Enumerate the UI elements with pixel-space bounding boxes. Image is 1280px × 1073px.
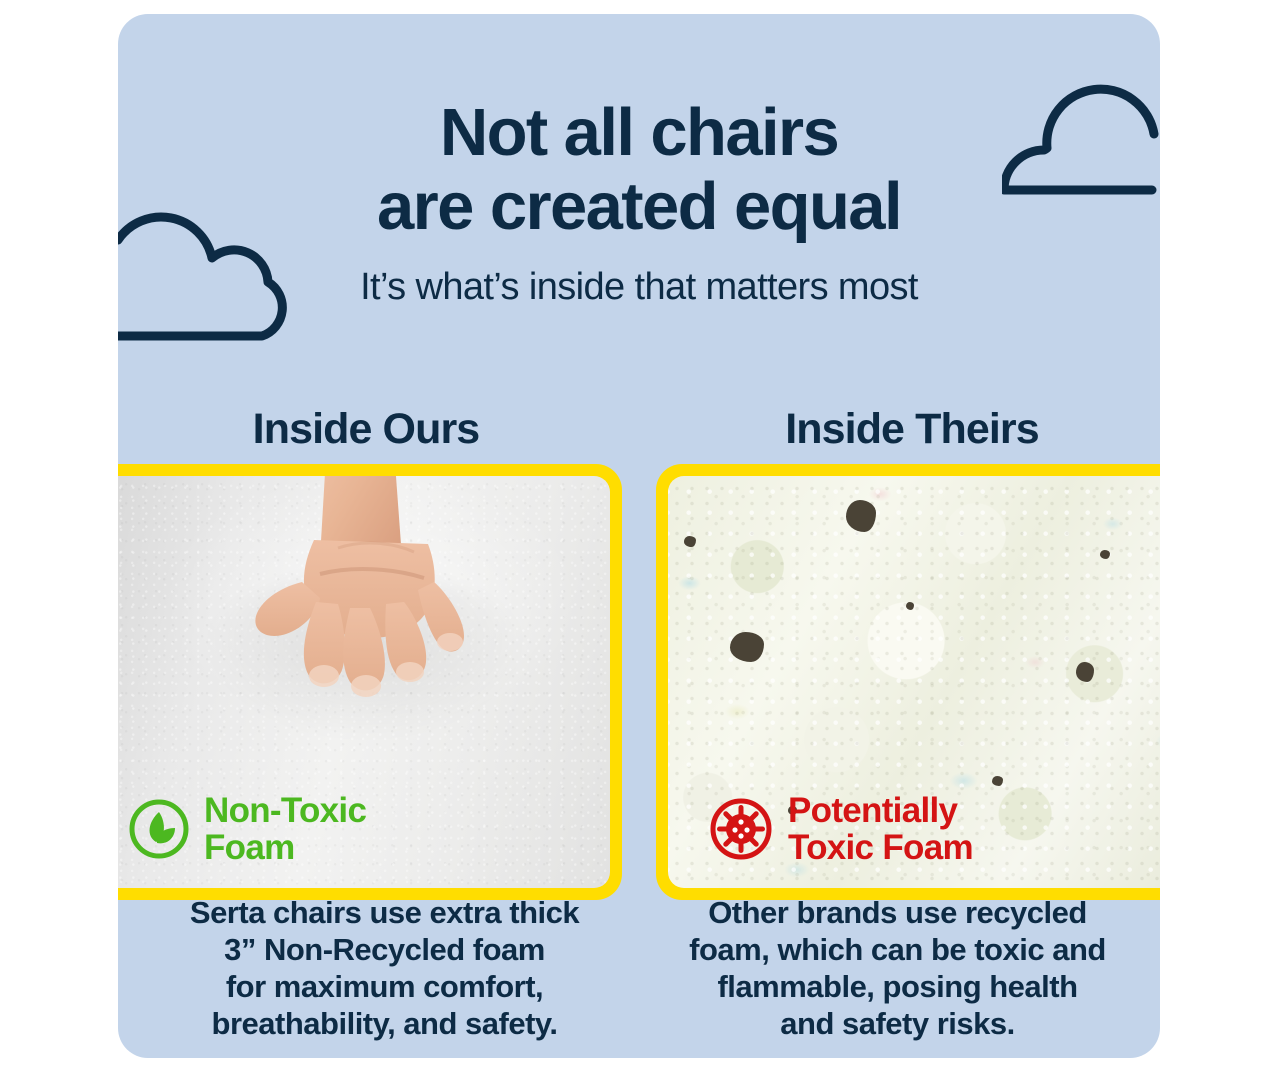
hand-illustration <box>242 476 478 730</box>
foam-debris-fleck <box>1100 550 1110 559</box>
foam-debris-fleck <box>992 776 1003 786</box>
column-captions: Serta chairs use extra thick 3” Non-Recy… <box>118 894 1160 1042</box>
panel-ours: Non-Toxic Foam <box>118 464 622 900</box>
foam-debris-fleck <box>684 536 696 547</box>
foam-debris-fleck <box>730 632 764 662</box>
leaf-circle-icon <box>128 798 190 860</box>
column-headings: Inside Ours Inside Theirs <box>118 403 1160 455</box>
page-title: Not all chairs are created equal <box>118 96 1160 244</box>
infographic-stage: Not all chairs are created equal It’s wh… <box>0 0 1280 1073</box>
toxic-germ-circle-icon <box>708 796 774 862</box>
foam-debris-fleck <box>1076 662 1094 682</box>
badge-label-non-toxic: Non-Toxic Foam <box>204 792 366 866</box>
badge-label-potentially-toxic: Potentially Toxic Foam <box>788 792 973 866</box>
column-heading-ours: Inside Ours <box>118 403 644 455</box>
panel-theirs: Potentially Toxic Foam <box>656 464 1160 900</box>
badge-potentially-toxic-foam: Potentially Toxic Foam <box>708 792 973 866</box>
headline-line-2: are created equal <box>118 170 1160 244</box>
foam-debris-fleck <box>846 500 876 532</box>
comparison-panels: Non-Toxic Foam <box>118 464 1160 876</box>
badge-non-toxic-foam: Non-Toxic Foam <box>128 792 366 866</box>
panel-theirs-image: Potentially Toxic Foam <box>668 476 1160 888</box>
caption-ours: Serta chairs use extra thick 3” Non-Recy… <box>118 894 641 1042</box>
headline-line-1: Not all chairs <box>118 96 1160 170</box>
page-subtitle: It’s what’s inside that matters most <box>118 264 1160 310</box>
comparison-card: Not all chairs are created equal It’s wh… <box>118 14 1160 1058</box>
foam-debris-fleck <box>906 602 914 610</box>
caption-theirs: Other brands use recycled foam, which ca… <box>641 894 1160 1042</box>
panel-ours-image: Non-Toxic Foam <box>118 476 610 888</box>
column-heading-theirs: Inside Theirs <box>644 403 1160 455</box>
